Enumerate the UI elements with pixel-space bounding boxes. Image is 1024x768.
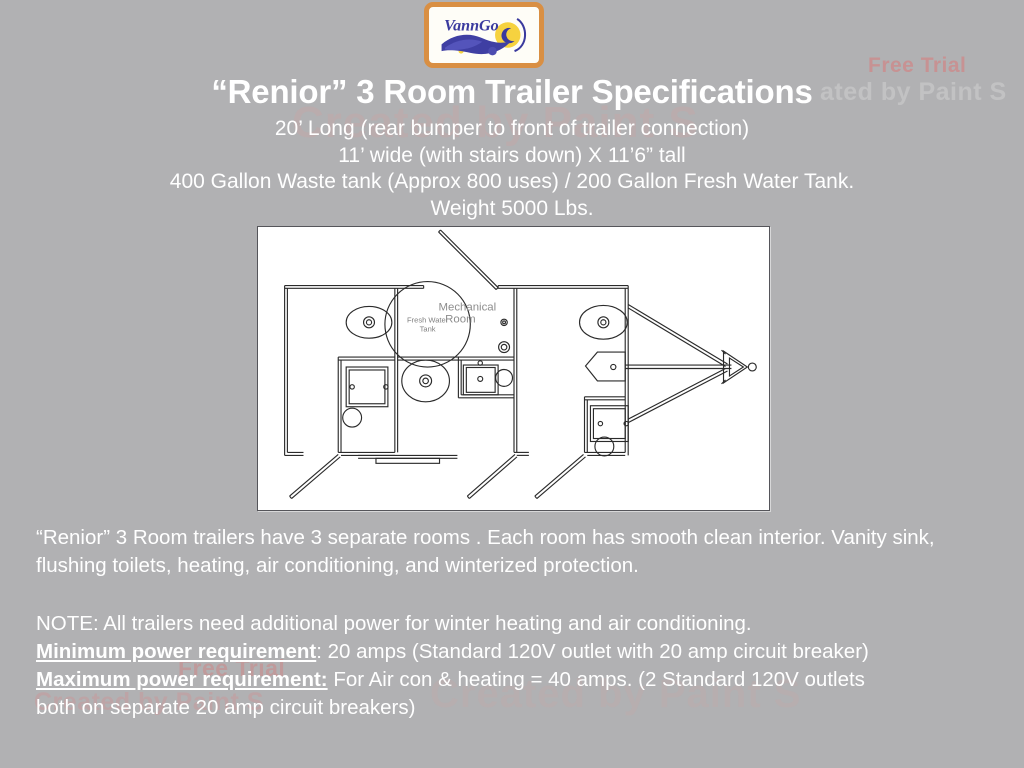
logo-wordmark: VannGo (444, 18, 499, 35)
spec-line-tanks: 400 Gallon Waste tank (Approx 800 uses) … (0, 169, 1024, 196)
maximum-power-line-2: both on separate 20 amp circuit breakers… (36, 694, 996, 722)
minimum-power-label: Minimum power requirement (36, 640, 316, 663)
spec-line-weight: Weight 5000 Lbs. (0, 196, 1024, 223)
maximum-power-line: Maximum power requirement: For Air con &… (36, 666, 996, 694)
label-mechanical-room-line1: Mechanical (438, 301, 496, 313)
minimum-power-value: : 20 amps (Standard 120V outlet with 20 … (316, 640, 869, 663)
description-paragraph: “Renior” 3 Room trailers have 3 separate… (36, 524, 996, 580)
maximum-power-label: Maximum power requirement: (36, 668, 328, 691)
spec-line-length: 20’ Long (rear bumper to front of traile… (0, 116, 1024, 143)
vanngo-logo: VannGo (424, 2, 544, 68)
maximum-power-value: For Air con & heating = 40 amps. (2 Stan… (328, 668, 865, 691)
label-mechanical-room-line2: Room (445, 313, 475, 325)
spec-list: 20’ Long (rear bumper to front of traile… (0, 116, 1024, 222)
label-fresh-water-tank-line1: Fresh Water (407, 315, 449, 324)
logo-artwork: VannGo (429, 7, 539, 63)
power-note-block: NOTE: All trailers need additional power… (36, 610, 996, 722)
note-intro-line: NOTE: All trailers need additional power… (36, 610, 996, 638)
label-fresh-water-tank-line2: Tank (420, 324, 436, 333)
floorplan-drawing: Fresh Water Tank Mechanical Room (258, 227, 769, 510)
spec-line-width-height: 11’ wide (with stairs down) X 11’6” tall (0, 143, 1024, 170)
floorplan-panel: Fresh Water Tank Mechanical Room (257, 226, 770, 511)
minimum-power-line: Minimum power requirement: 20 amps (Stan… (36, 638, 996, 666)
page-title: “Renior” 3 Room Trailer Specifications (0, 73, 1024, 111)
